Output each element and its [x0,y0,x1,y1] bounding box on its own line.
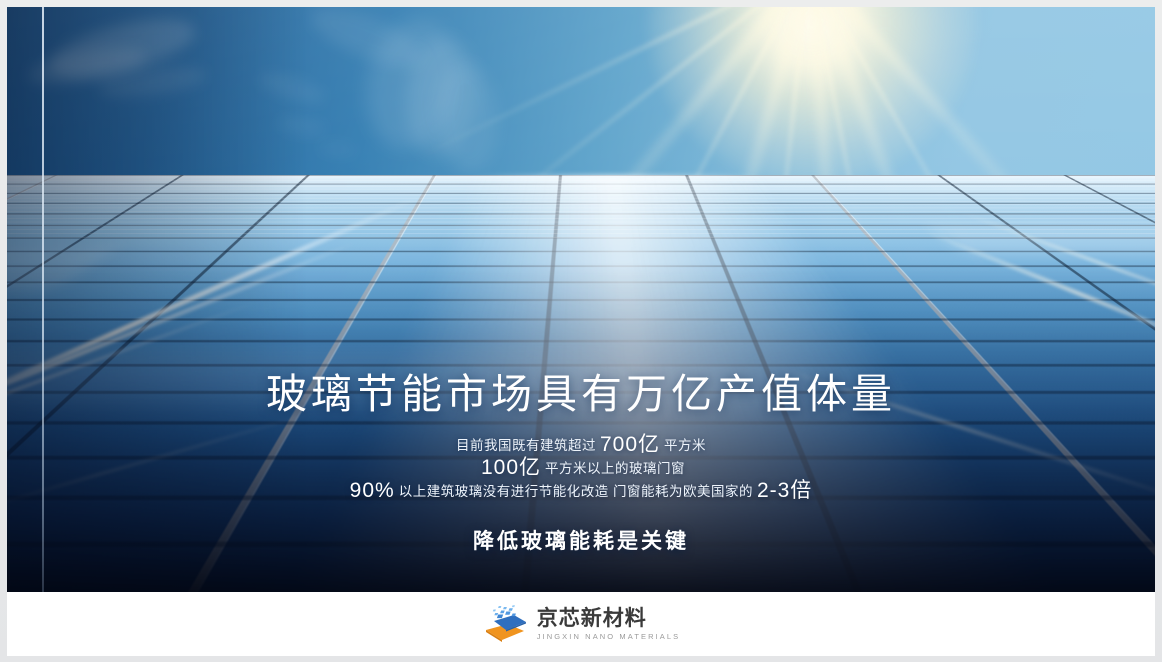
fact-number: 100亿 [477,456,545,479]
fact-suffix: 平方米 [664,438,706,453]
hero-image: 玻璃节能市场具有万亿产值体量 目前我国既有建筑超过700亿平方米 100亿平方米… [7,7,1155,592]
fact-suffix: 以上建筑玻璃没有进行节能化改造 门窗能耗为欧美国家的 [399,484,753,499]
brand-name-cn: 京芯新材料 [537,608,681,630]
brand-text-block: 京芯新材料 JINGXIN NANO MATERIALS [537,608,681,641]
fact-line: 90%以上建筑玻璃没有进行节能化改造 门窗能耗为欧美国家的2-3倍 [7,480,1155,503]
kicker-statement: 降低玻璃能耗是关键 [7,525,1155,555]
fact-number: 700亿 [596,433,664,456]
slide-root: 玻璃节能市场具有万亿产值体量 目前我国既有建筑超过700亿平方米 100亿平方米… [0,0,1162,662]
fact-list: 目前我国既有建筑超过700亿平方米 100亿平方米以上的玻璃门窗 90%以上建筑… [7,434,1155,503]
footer-bar: 京芯新材料 JINGXIN NANO MATERIALS [7,592,1155,656]
fact-number: 90% [346,479,399,502]
fact-prefix: 目前我国既有建筑超过 [456,438,596,453]
fact-line: 100亿平方米以上的玻璃门窗 [7,457,1155,480]
pixel-stack-logo-icon [482,604,528,644]
hero-copy: 玻璃节能市场具有万亿产值体量 目前我国既有建筑超过700亿平方米 100亿平方米… [7,369,1155,555]
brand-name-en: JINGXIN NANO MATERIALS [537,633,681,641]
fact-number-secondary: 2-3倍 [753,479,816,502]
fact-suffix: 平方米以上的玻璃门窗 [545,461,685,476]
page-title: 玻璃节能市场具有万亿产值体量 [7,369,1155,420]
brand-lockup: 京芯新材料 JINGXIN NANO MATERIALS [482,604,681,644]
fact-line: 目前我国既有建筑超过700亿平方米 [7,434,1155,457]
